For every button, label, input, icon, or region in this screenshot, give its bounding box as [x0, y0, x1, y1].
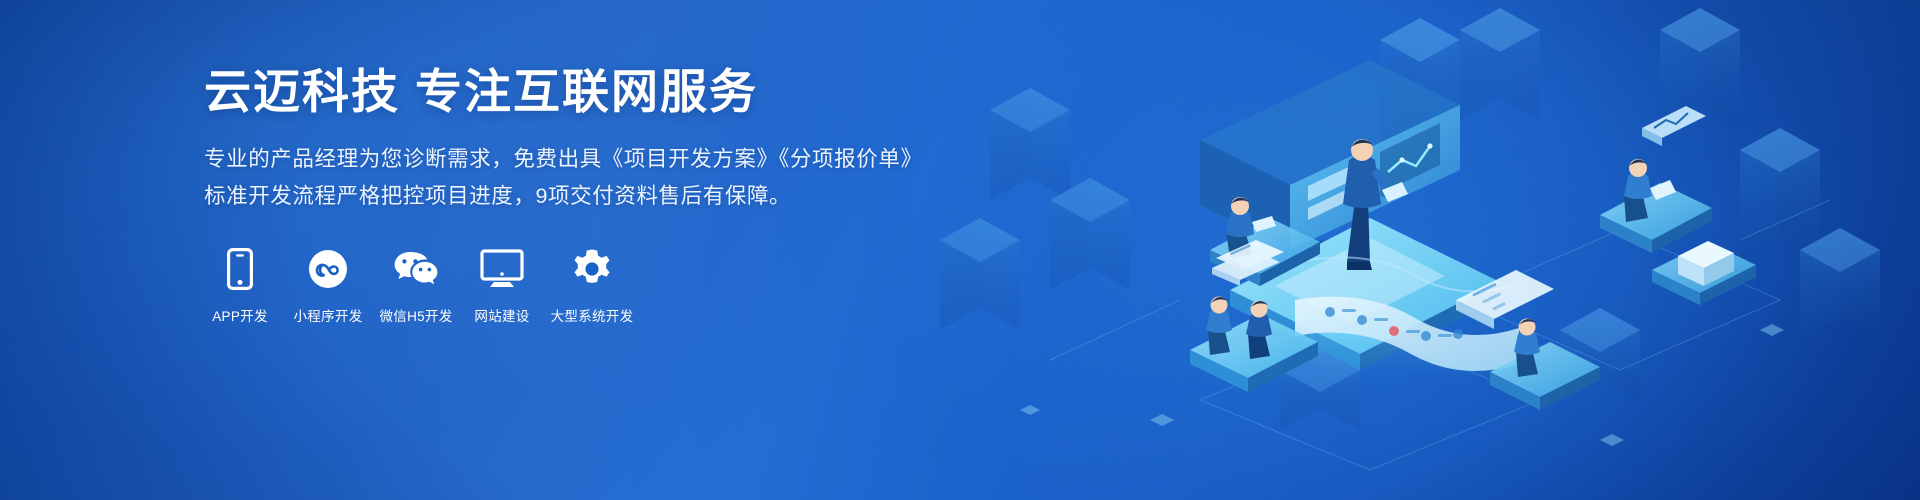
- service-item-miniprogram[interactable]: 小程序开发: [292, 247, 364, 325]
- service-label-app: APP开发: [212, 305, 268, 325]
- banner-headline: 云迈科技 专注互联网服务: [204, 64, 904, 119]
- mobile-phone-icon: [227, 247, 253, 291]
- monitor-icon: [480, 247, 524, 291]
- mini-program-icon: [308, 247, 348, 291]
- service-item-wechat[interactable]: 微信H5开发: [380, 247, 452, 325]
- subtitle-line-2: 标准开发流程严格把控项目进度，9项交付资料售后有保障。: [204, 178, 904, 215]
- wechat-icon: [393, 247, 439, 291]
- service-label-system: 大型系统开发: [551, 305, 634, 325]
- gear-icon: [571, 247, 613, 291]
- banner-subtitle: 专业的产品经理为您诊断需求，免费出具《项目开发方案》《分项报价单》 标准开发流程…: [204, 141, 904, 215]
- service-list: APP开发 小程序开发: [204, 247, 904, 325]
- service-item-website[interactable]: 网站建设: [466, 247, 538, 325]
- subtitle-line-1: 专业的产品经理为您诊断需求，免费出具《项目开发方案》《分项报价单》: [204, 141, 904, 178]
- banner-content: 云迈科技 专注互联网服务 专业的产品经理为您诊断需求，免费出具《项目开发方案》《…: [204, 64, 904, 325]
- service-item-app[interactable]: APP开发: [204, 247, 276, 325]
- isometric-tech-illustration: [900, 0, 1920, 500]
- promo-banner: 云迈科技 专注互联网服务 专业的产品经理为您诊断需求，免费出具《项目开发方案》《…: [0, 0, 1920, 500]
- service-label-wechat: 微信H5开发: [379, 305, 452, 325]
- service-label-miniprogram: 小程序开发: [294, 305, 363, 325]
- service-item-system[interactable]: 大型系统开发: [556, 247, 628, 325]
- service-label-website: 网站建设: [474, 305, 529, 325]
